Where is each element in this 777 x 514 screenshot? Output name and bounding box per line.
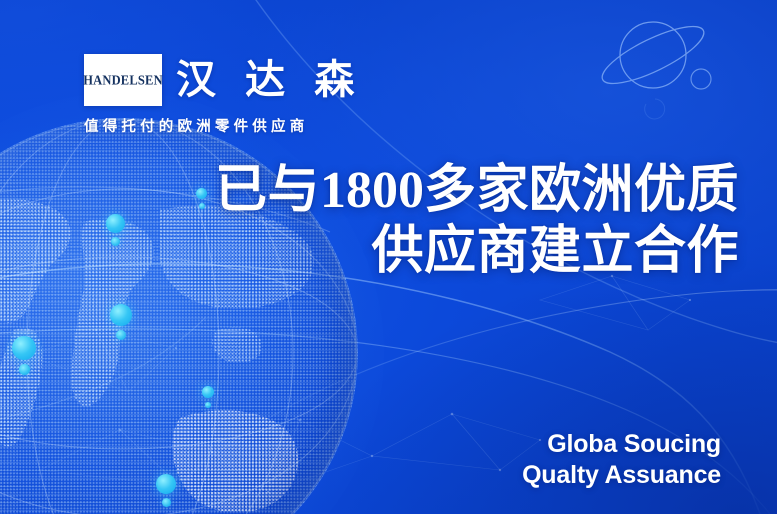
headline-number: 1800 [320,162,424,219]
brand-logo-block: HANDELSEN 汉 达 森 值得托付的欧洲零件供应商 [84,54,384,136]
headline-line-1: 已与1800多家欧洲优质 [0,160,739,221]
logo-mark-text: HANDELSEN [83,72,163,88]
headline-line-2: 供应商建立合作 [0,221,739,282]
brand-tagline-cn: 值得托付的欧洲零件供应商 [84,115,384,136]
logo-row: HANDELSEN 汉 达 森 [84,54,384,106]
headline-prefix: 已与 [215,161,320,219]
poster-canvas: HANDELSEN 汉 达 森 值得托付的欧洲零件供应商 已与1800多家欧洲优… [0,0,777,514]
english-tagline-line-2: Qualty Assuance [522,460,721,491]
headline-suffix: 多家欧洲优质 [424,161,739,219]
english-tagline-block: Globa Soucing Qualty Assuance [522,429,721,490]
brand-name-cn: 汉 达 森 [176,60,363,100]
handelsen-logo-mark: HANDELSEN [84,54,162,106]
english-tagline-line-1: Globa Soucing [522,429,721,460]
headline-block: 已与1800多家欧洲优质 供应商建立合作 [0,160,739,283]
